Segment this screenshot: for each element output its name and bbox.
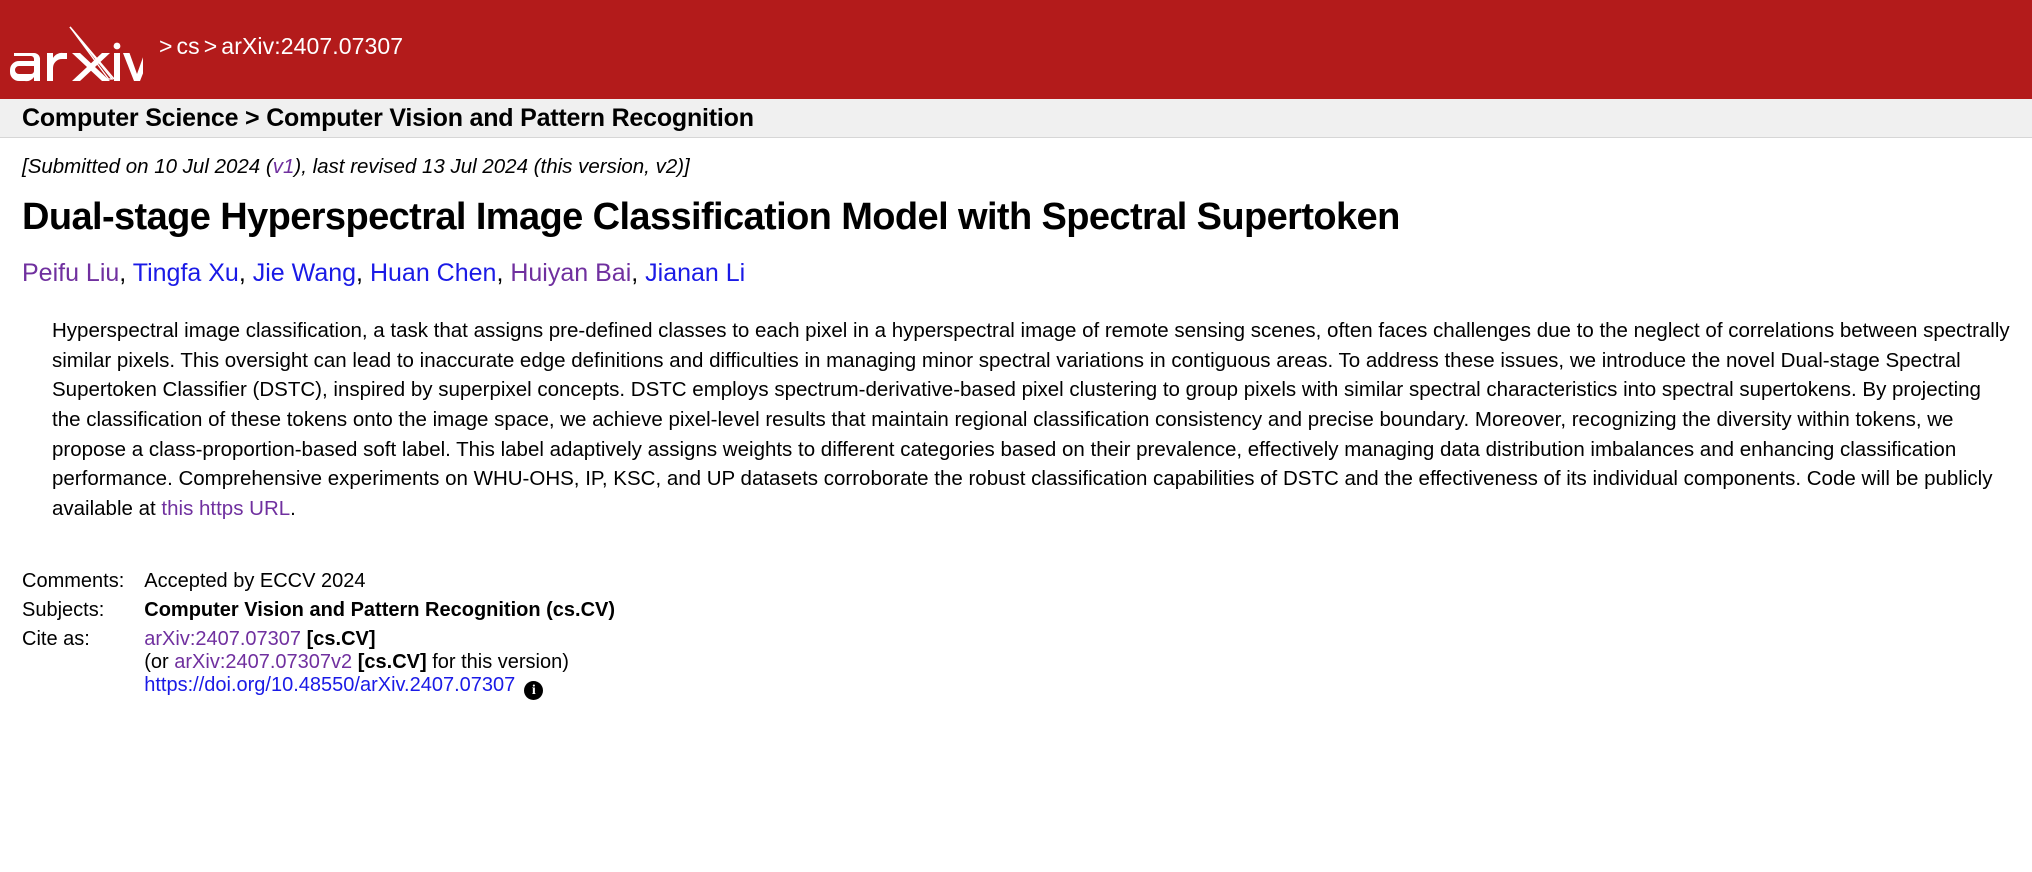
paper-content: [Submitted on 10 Jul 2024 (v1), last rev… [0, 155, 2032, 706]
abstract-text: Hyperspectral image classification, a ta… [52, 316, 2010, 524]
cite-as-arxiv-id-link[interactable]: arXiv:2407.07307 [144, 628, 301, 650]
arxiv-banner: >cs>arXiv:2407.07307 [0, 0, 2032, 99]
comments-value: Accepted by ECCV 2024 [144, 570, 615, 599]
arxiv-logo-icon [10, 23, 143, 85]
subjects-label: Subjects: [22, 599, 144, 628]
breadcrumb-identifier: arXiv:2407.07307 [221, 33, 403, 59]
cite-as-label: Cite as: [22, 628, 144, 706]
table-row-comments: Comments: Accepted by ECCV 2024 [22, 570, 615, 599]
subjects-value-text: Computer Vision and Pattern Recognition … [144, 599, 615, 621]
authors-list: Peifu Liu, Tingfa Xu, Jie Wang, Huan Che… [22, 258, 2010, 288]
author-link[interactable]: Huiyan Bai [510, 259, 631, 287]
subject-header-bar: Computer Science > Computer Vision and P… [0, 99, 2032, 138]
arxiv-logo-link[interactable] [10, 15, 143, 85]
breadcrumb: >cs>arXiv:2407.07307 [155, 33, 403, 60]
author-link[interactable]: Tingfa Xu [133, 259, 239, 287]
breadcrumb-separator-2: > [200, 33, 222, 59]
abstract-body-tail: . [290, 497, 296, 520]
submission-dateline: [Submitted on 10 Jul 2024 (v1), last rev… [22, 155, 2010, 179]
cite-as-line-doi: https://doi.org/10.48550/arXiv.2407.0730… [144, 674, 615, 700]
cite-as-version-link[interactable]: arXiv:2407.07307v2 [174, 651, 352, 673]
cite-as-version-class: [cs.CV] [358, 651, 427, 673]
version-v1-link[interactable]: v1 [273, 155, 295, 178]
cite-as-version-prefix: (or [144, 651, 174, 673]
author-separator: , [119, 259, 132, 287]
author-link[interactable]: Jie Wang [253, 259, 356, 287]
author-separator: , [631, 259, 645, 287]
abstract-code-url-link[interactable]: this https URL [161, 497, 290, 520]
dateline-prefix: [Submitted on 10 Jul 2024 ( [22, 155, 273, 178]
dateline-suffix: ), last revised 13 Jul 2024 (this versio… [294, 155, 689, 178]
author-link[interactable]: Jianan Li [645, 259, 745, 287]
metadata-table: Comments: Accepted by ECCV 2024 Subjects… [22, 570, 615, 706]
cite-as-line-version: (or arXiv:2407.07307v2 [cs.CV] for this … [144, 651, 615, 674]
cite-as-line-primary: arXiv:2407.07307 [cs.CV] [144, 628, 615, 651]
cite-as-value: arXiv:2407.07307 [cs.CV] (or arXiv:2407.… [144, 628, 615, 706]
subjects-value: Computer Vision and Pattern Recognition … [144, 599, 615, 628]
abstract-body: Hyperspectral image classification, a ta… [52, 319, 2010, 520]
table-row-cite-as: Cite as: arXiv:2407.07307 [cs.CV] (or ar… [22, 628, 615, 706]
page-title: Dual-stage Hyperspectral Image Classific… [22, 197, 2010, 239]
doi-link[interactable]: https://doi.org/10.48550/arXiv.2407.0730… [144, 674, 515, 696]
cite-as-version-suffix: for this version) [427, 651, 569, 673]
author-separator: , [239, 259, 253, 287]
table-row-subjects: Subjects: Computer Vision and Pattern Re… [22, 599, 615, 628]
author-separator: , [356, 259, 370, 287]
author-link[interactable]: Huan Chen [370, 259, 496, 287]
subject-header-title: Computer Science > Computer Vision and P… [22, 104, 754, 133]
comments-label: Comments: [22, 570, 144, 599]
breadcrumb-archive-cs[interactable]: cs [177, 33, 200, 59]
info-icon[interactable]: i [524, 681, 543, 700]
cite-as-primary-class: [cs.CV] [307, 628, 376, 650]
breadcrumb-separator-1: > [155, 33, 177, 59]
author-link[interactable]: Peifu Liu [22, 259, 119, 287]
author-separator: , [496, 259, 510, 287]
